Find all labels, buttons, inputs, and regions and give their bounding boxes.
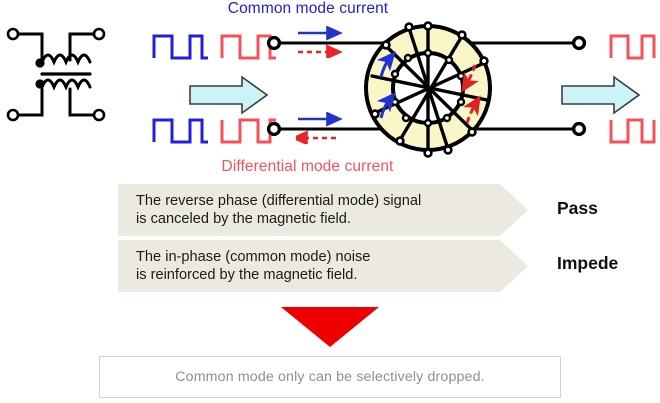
common-mode-choke-symbol: [2, 22, 110, 127]
signal-flow-arrow-left: [188, 74, 270, 116]
line-terminal-bottom-right: [574, 124, 585, 135]
polarity-dot-lower: [35, 79, 44, 88]
red-pulse-bottom-out: [608, 114, 660, 146]
conclusion-box: Common mode only can be selectively drop…: [99, 356, 561, 398]
magnetic-flux-arrows: [348, 8, 508, 168]
terminal-top-right: [94, 29, 104, 39]
red-flux-arrow-lower-right: [467, 103, 476, 123]
verdict-pass: Pass: [557, 198, 598, 219]
terminal-bottom-right: [94, 110, 104, 120]
banner-common-impede: The in-phase (common mode) noise is rein…: [118, 240, 528, 292]
blue-pulse-top-in: [150, 30, 212, 62]
terminal-top-left: [8, 29, 18, 39]
line-terminal-bottom-left: [269, 124, 280, 135]
verdict-impede: Impede: [557, 253, 618, 274]
terminal-bottom-left: [8, 110, 18, 120]
line-terminal-top-right: [574, 38, 585, 49]
blue-flux-arrow-upper-left: [381, 58, 390, 77]
current-arrows-bottom-line: [296, 112, 366, 144]
red-down-arrow: [280, 305, 380, 349]
diagram-canvas: Common mode current Differential mode cu…: [0, 0, 660, 403]
banner-impede-text: The in-phase (common mode) noise is rein…: [118, 248, 370, 285]
red-pulse-top-out: [608, 30, 660, 62]
polarity-dot-upper: [35, 58, 44, 67]
conclusion-text: Common mode only can be selectively drop…: [175, 369, 484, 385]
banner-differential-pass: The reverse phase (differential mode) si…: [118, 184, 528, 236]
banner-pass-text: The reverse phase (differential mode) si…: [118, 192, 421, 229]
current-arrows-top-line: [296, 26, 366, 58]
line-terminal-top-left: [269, 38, 280, 49]
blue-pulse-bottom-in: [150, 114, 212, 146]
blue-flux-arrow-lower-left: [381, 99, 390, 118]
red-flux-arrow-upper-right: [466, 65, 475, 85]
